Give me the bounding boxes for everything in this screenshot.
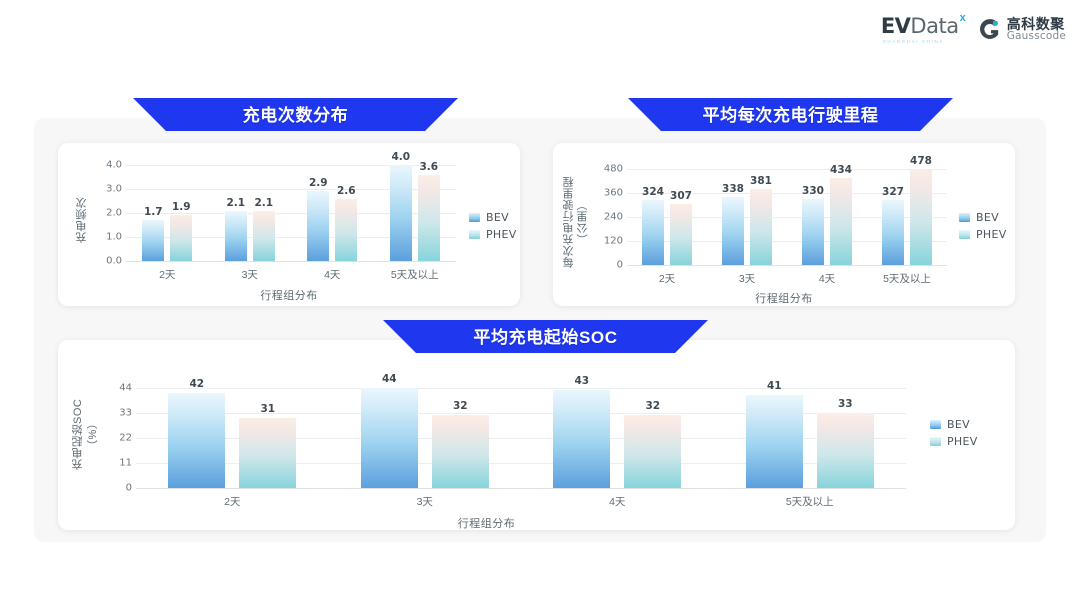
x-tick: 2天 bbox=[126, 267, 209, 282]
bar-bev[interactable]: 41 bbox=[746, 395, 803, 488]
bar-groups-soc: 42 31 44 32 43 32 41 33 bbox=[136, 388, 906, 488]
bar-group: 2.1 2.1 bbox=[209, 165, 292, 261]
legend-item-phev[interactable]: PHEV bbox=[930, 435, 978, 448]
chart-title-text: 充电次数分布 bbox=[133, 98, 458, 131]
legend-item-bev[interactable]: BEV bbox=[469, 211, 517, 224]
bar-phev[interactable]: 2.1 bbox=[253, 211, 275, 261]
bar-value-label: 1.7 bbox=[144, 206, 163, 218]
x-tick: 4天 bbox=[291, 267, 374, 282]
bar-group: 4.0 3.6 bbox=[374, 165, 457, 261]
bar-value-label: 478 bbox=[910, 155, 932, 167]
chart-card-avg-range: 每次充电行驶里程 （公里） 480 360 240 120 0 324 307 bbox=[553, 143, 1015, 306]
evdata-data-text: Data bbox=[910, 14, 958, 38]
bar-group: 2.9 2.6 bbox=[291, 165, 374, 261]
y-tick: 480 bbox=[604, 164, 623, 175]
legend-freq: BEV PHEV bbox=[469, 211, 517, 241]
bar-value-label: 434 bbox=[830, 164, 852, 176]
x-tick: 3天 bbox=[707, 271, 787, 286]
x-tick: 3天 bbox=[329, 494, 522, 509]
legend-swatch-bev-icon bbox=[959, 213, 970, 222]
slide-root: EV Data x SHANGHAI CHINA 高科数聚 Gausscode … bbox=[0, 0, 1080, 608]
chart-card-start-soc: 充电起始SOC （%） 44 33 22 11 0 42 31 bbox=[58, 340, 1015, 530]
chart-title-banner-soc: 平均充电起始SOC bbox=[383, 320, 708, 353]
evdata-superscript-x: x bbox=[960, 12, 966, 24]
y-axis-label-soc-line2: （%） bbox=[87, 414, 101, 454]
bar-phev[interactable]: 307 bbox=[670, 204, 692, 265]
bar-phev[interactable]: 3.6 bbox=[418, 175, 440, 261]
legend-swatch-phev-icon bbox=[930, 437, 941, 446]
chart-title-banner-range: 平均每次充电行驶里程 bbox=[628, 98, 953, 131]
bar-value-label: 32 bbox=[453, 400, 468, 412]
legend-item-bev[interactable]: BEV bbox=[930, 418, 978, 431]
y-tick: 360 bbox=[604, 188, 623, 199]
x-tick: 2天 bbox=[136, 494, 329, 509]
gausscode-cn-text: 高科数聚 bbox=[1007, 17, 1066, 31]
bar-groups-freq: 1.7 1.9 2.1 2.1 2.9 2.6 4.0 bbox=[126, 165, 456, 261]
bar-bev[interactable]: 44 bbox=[361, 388, 418, 488]
bar-phev[interactable]: 33 bbox=[817, 413, 874, 488]
y-axis-ticks-soc: 44 33 22 11 0 bbox=[100, 388, 132, 488]
y-tick: 11 bbox=[119, 458, 132, 469]
legend-label: BEV bbox=[947, 418, 970, 431]
gausscode-mark-icon bbox=[980, 18, 1002, 40]
bar-bev[interactable]: 42 bbox=[168, 393, 225, 489]
y-axis-ticks-range: 480 360 240 120 0 bbox=[591, 169, 623, 265]
y-tick: 240 bbox=[604, 212, 623, 223]
x-tick: 4天 bbox=[521, 494, 714, 509]
y-tick: 2.0 bbox=[106, 208, 122, 219]
bar-value-label: 338 bbox=[722, 183, 744, 195]
bar-group: 1.7 1.9 bbox=[126, 165, 209, 261]
bar-phev[interactable]: 1.9 bbox=[170, 215, 192, 261]
gausscode-logo: 高科数聚 Gausscode bbox=[980, 17, 1066, 42]
bar-value-label: 42 bbox=[189, 378, 204, 390]
legend-item-bev[interactable]: BEV bbox=[959, 211, 1007, 224]
bar-phev[interactable]: 32 bbox=[624, 415, 681, 488]
bar-group: 43 32 bbox=[521, 388, 714, 488]
bar-value-label: 32 bbox=[645, 400, 660, 412]
x-axis-label-soc: 行程组分布 bbox=[8, 515, 965, 531]
evdata-logo-icon: EV Data x SHANGHAI CHINA bbox=[881, 14, 966, 44]
bar-value-label: 2.6 bbox=[337, 185, 356, 197]
legend-swatch-phev-icon bbox=[959, 230, 970, 239]
bar-value-label: 43 bbox=[574, 375, 589, 387]
y-tick: 1.0 bbox=[106, 232, 122, 243]
x-axis-ticks-soc: 2天 3天 4天 5天及以上 bbox=[136, 494, 906, 509]
bar-phev[interactable]: 2.6 bbox=[335, 199, 357, 261]
chart-title-text: 平均充电起始SOC bbox=[383, 320, 708, 353]
legend-label: PHEV bbox=[486, 228, 517, 241]
y-tick: 33 bbox=[119, 408, 132, 419]
y-tick: 4.0 bbox=[106, 160, 122, 171]
legend-range: BEV PHEV bbox=[959, 211, 1007, 241]
bar-phev[interactable]: 32 bbox=[432, 415, 489, 488]
axis-baseline bbox=[136, 488, 906, 489]
bar-bev[interactable]: 1.7 bbox=[142, 220, 164, 261]
y-axis-label-soc-line1: 充电起始SOC bbox=[72, 386, 86, 482]
x-tick: 5天及以上 bbox=[867, 271, 947, 286]
y-tick: 22 bbox=[119, 433, 132, 444]
axis-baseline bbox=[126, 261, 456, 262]
x-axis-label-freq: 行程组分布 bbox=[58, 287, 520, 303]
evdata-ev-text: EV bbox=[881, 14, 911, 38]
legend-label: PHEV bbox=[976, 228, 1007, 241]
bar-bev[interactable]: 2.9 bbox=[307, 191, 329, 261]
bar-group: 327 478 bbox=[867, 169, 947, 265]
y-axis-ticks-freq: 4.0 3.0 2.0 1.0 0.0 bbox=[88, 165, 122, 261]
x-tick: 5天及以上 bbox=[374, 267, 457, 282]
x-tick: 2天 bbox=[627, 271, 707, 286]
bar-phev[interactable]: 31 bbox=[239, 418, 296, 489]
y-tick: 0.0 bbox=[106, 256, 122, 267]
evdata-tagline: SHANGHAI CHINA bbox=[881, 39, 944, 44]
x-tick: 3天 bbox=[209, 267, 292, 282]
bar-group: 330 434 bbox=[787, 169, 867, 265]
bar-group: 338 381 bbox=[707, 169, 787, 265]
bar-phev[interactable]: 381 bbox=[750, 189, 772, 265]
bar-bev[interactable]: 43 bbox=[553, 390, 610, 488]
bar-value-label: 33 bbox=[838, 398, 853, 410]
legend-item-phev[interactable]: PHEV bbox=[469, 228, 517, 241]
chart-title-text: 平均每次充电行驶里程 bbox=[628, 98, 953, 131]
bar-bev[interactable]: 338 bbox=[722, 197, 744, 265]
x-tick: 4天 bbox=[787, 271, 867, 286]
bar-group: 324 307 bbox=[627, 169, 707, 265]
bar-bev[interactable]: 327 bbox=[882, 200, 904, 265]
y-tick: 3.0 bbox=[106, 184, 122, 195]
axis-baseline bbox=[627, 265, 947, 266]
x-tick: 5天及以上 bbox=[714, 494, 907, 509]
legend-swatch-phev-icon bbox=[469, 230, 480, 239]
y-tick: 120 bbox=[604, 236, 623, 247]
x-axis-ticks-range: 2天 3天 4天 5天及以上 bbox=[627, 271, 947, 286]
y-tick: 0 bbox=[617, 260, 623, 271]
chart-card-charging-frequency: 充电频次 4.0 3.0 2.0 1.0 0.0 1.7 1.9 bbox=[58, 143, 520, 306]
legend-item-phev[interactable]: PHEV bbox=[959, 228, 1007, 241]
bar-value-label: 324 bbox=[642, 186, 664, 198]
chart-title-banner-frequency: 充电次数分布 bbox=[133, 98, 458, 131]
bar-bev[interactable]: 2.1 bbox=[225, 211, 247, 261]
bar-bev[interactable]: 324 bbox=[642, 200, 664, 265]
y-axis-label-range-line2: （公里） bbox=[577, 185, 590, 259]
bar-value-label: 330 bbox=[802, 185, 824, 197]
bar-groups-range: 324 307 338 381 330 434 327 bbox=[627, 169, 947, 265]
legend-label: BEV bbox=[976, 211, 999, 224]
bar-group: 41 33 bbox=[714, 388, 907, 488]
bar-value-label: 44 bbox=[382, 373, 397, 385]
legend-swatch-bev-icon bbox=[930, 420, 941, 429]
bar-group: 42 31 bbox=[136, 388, 329, 488]
bar-bev[interactable]: 330 bbox=[802, 199, 824, 265]
legend-label: PHEV bbox=[947, 435, 978, 448]
x-axis-label-range: 行程组分布 bbox=[553, 290, 1015, 306]
bar-value-label: 2.1 bbox=[254, 197, 273, 209]
bar-value-label: 307 bbox=[670, 190, 692, 202]
gausscode-en-text: Gausscode bbox=[1007, 31, 1066, 42]
bar-phev[interactable]: 434 bbox=[830, 178, 852, 265]
bar-value-label: 4.0 bbox=[391, 151, 410, 163]
legend-label: BEV bbox=[486, 211, 509, 224]
x-axis-ticks-freq: 2天 3天 4天 5天及以上 bbox=[126, 267, 456, 282]
legend-swatch-bev-icon bbox=[469, 213, 480, 222]
y-axis-label-range-line1: 每次充电行驶里程 bbox=[563, 163, 576, 281]
y-tick: 44 bbox=[119, 383, 132, 394]
bar-value-label: 31 bbox=[260, 403, 275, 415]
legend-soc: BEV PHEV bbox=[930, 418, 978, 448]
bar-value-label: 1.9 bbox=[172, 201, 191, 213]
bar-group: 44 32 bbox=[329, 388, 522, 488]
bar-value-label: 41 bbox=[767, 380, 782, 392]
bar-value-label: 381 bbox=[750, 175, 772, 187]
bar-value-label: 2.9 bbox=[309, 177, 328, 189]
bar-value-label: 2.1 bbox=[226, 197, 245, 209]
gausscode-wordmark: 高科数聚 Gausscode bbox=[1007, 17, 1066, 42]
brand-header: EV Data x SHANGHAI CHINA 高科数聚 Gausscode bbox=[881, 14, 1066, 44]
y-tick: 0 bbox=[126, 483, 132, 494]
evdata-wordmark: EV Data x bbox=[881, 14, 966, 38]
bar-phev[interactable]: 478 bbox=[910, 169, 932, 265]
bar-value-label: 327 bbox=[882, 186, 904, 198]
bar-value-label: 3.6 bbox=[419, 161, 438, 173]
bar-bev[interactable]: 4.0 bbox=[390, 165, 412, 261]
